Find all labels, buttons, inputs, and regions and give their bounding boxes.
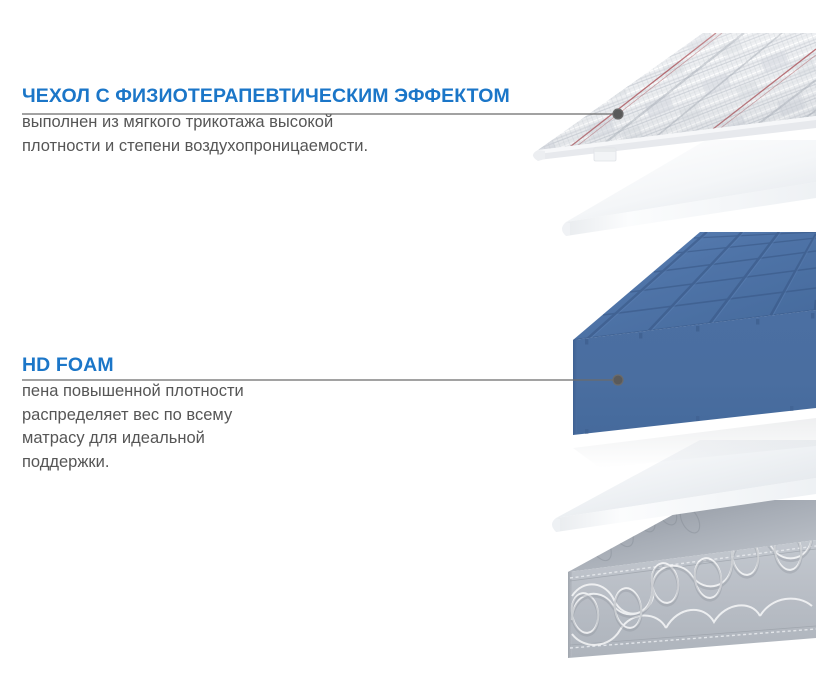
base-left-edge [568,570,572,658]
lower-foam-front-edge [556,478,816,532]
callout-cover: ЧЕХОЛ С ФИЗИОТЕРАПЕВТИЧЕСКИМ ЭФФЕКТОМ вы… [22,86,582,158]
base-top-quilting [584,496,704,564]
blue-foam-top-face [573,232,816,340]
base-side-band [568,540,816,658]
cover-handle-tab [594,148,616,161]
callout-cover-title: ЧЕХОЛ С ФИЗИОТЕРАПЕВТИЧЕСКИМ ЭФФЕКТОМ [22,86,582,107]
layer-hd-foam-blue [573,232,816,468]
base-piping [570,546,816,648]
lower-foam-shadow [556,452,816,525]
callout-hd-foam-line-1: пена повышенной плотности [22,380,442,403]
cover-red-accent-seams [566,33,816,150]
leader-dot-cover [613,109,623,119]
lower-foam-top-face [556,440,816,518]
base-top-face [568,500,816,572]
layer-white-foam-upper [562,140,816,236]
infographic-canvas: ЧЕХОЛ С ФИЗИОТЕРАПЕВТИЧЕСКИМ ЭФФЕКТОМ вы… [0,0,816,700]
layer-white-foam-lower [552,440,816,532]
callout-hd-foam-title: HD FOAM [22,355,442,376]
lower-foam-left-tip [552,518,560,532]
base-ornamental-quilting [569,528,812,645]
upper-foam-top-face [566,140,816,222]
layer-spring-base [568,496,816,658]
callout-hd-foam-line-3: матрасу для идеальной [22,427,442,450]
upper-foam-front-edge [566,182,816,236]
blue-foam-shadow [573,418,816,468]
blue-foam-left-edge [573,338,577,435]
callout-hd-foam: HD FOAM пена повышенной плотности распре… [22,355,442,474]
callout-cover-body: выполнен из мягкого трикотажа высокой пл… [22,111,582,158]
blue-foam-channel-notches [585,313,814,345]
callout-hd-foam-body: пена повышенной плотности распределяет в… [22,380,442,474]
callout-hd-foam-line-4: поддержки. [22,451,442,474]
callout-hd-foam-line-2: распределяет вес по всему [22,404,442,427]
callout-cover-line-2: плотности и степени воздухопроницаемости… [22,135,582,158]
upper-foam-shadow [566,150,816,232]
blue-foam-grid [573,232,816,340]
blue-foam-front-face [573,310,816,435]
leader-dot-foam [613,375,623,385]
upper-foam-left-tip [562,222,570,236]
callout-cover-line-1: выполнен из мягкого трикотажа высокой [22,111,582,134]
